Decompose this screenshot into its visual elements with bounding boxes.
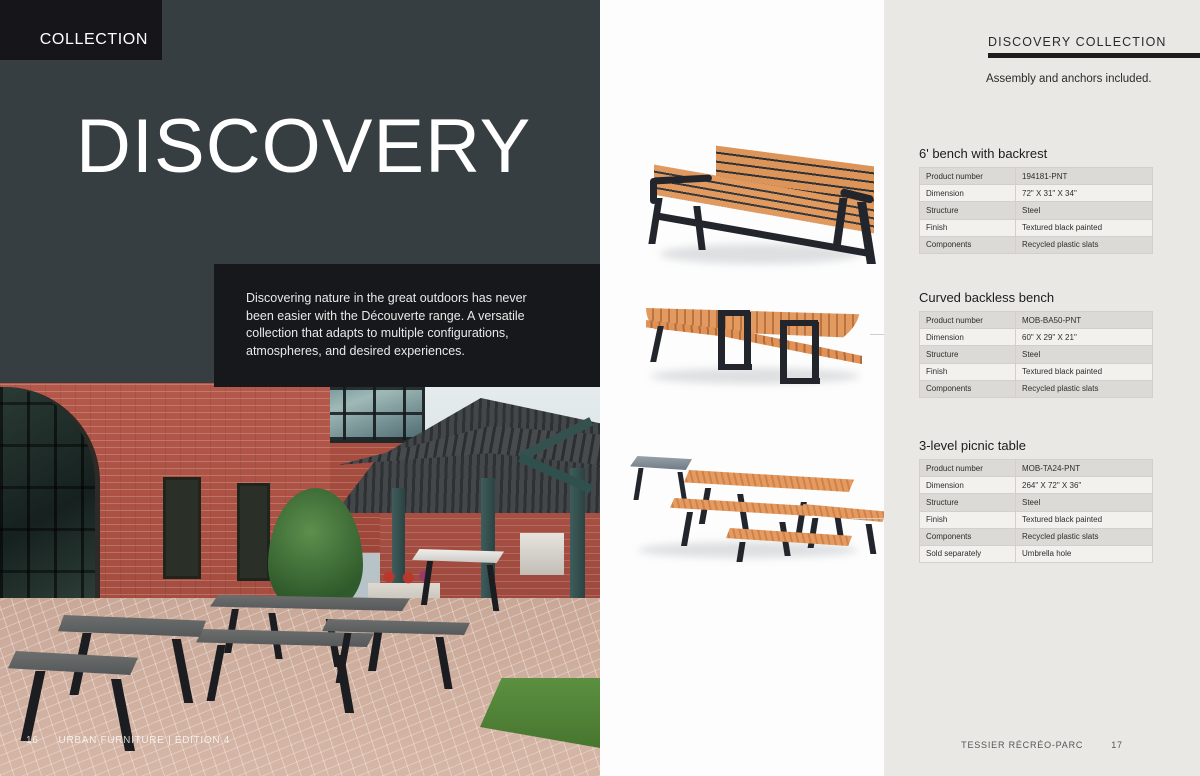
spec-value: Steel xyxy=(1016,202,1153,219)
spec-value: Steel xyxy=(1016,346,1153,363)
table-row: Dimension 264" X 72" X 36" xyxy=(920,477,1153,494)
spec-value: MOB-TA24-PNT xyxy=(1016,460,1153,477)
spec-value: Recycled plastic slats xyxy=(1016,380,1153,397)
spec-key: Dimension xyxy=(920,185,1016,202)
table-row: Structure Steel xyxy=(920,202,1153,219)
table-row: Components Recycled plastic slats xyxy=(920,236,1153,253)
product-title: Curved backless bench xyxy=(919,290,1153,305)
assembly-note: Assembly and anchors included. xyxy=(986,73,1152,85)
page-title: DISCOVERY xyxy=(76,109,531,185)
right-page-number: 17 xyxy=(1111,740,1123,750)
spec-value: Recycled plastic slats xyxy=(1016,236,1153,253)
spec-key: Finish xyxy=(920,219,1016,236)
window-1 xyxy=(163,477,201,579)
spec-value: Steel xyxy=(1016,494,1153,511)
spec-key: Structure xyxy=(920,494,1016,511)
three-level-picnic-table-render xyxy=(622,446,884,562)
stone-block xyxy=(520,533,564,575)
product-block-2: Curved backless bench Product number MOB… xyxy=(919,290,1153,398)
spec-key: Dimension xyxy=(920,329,1016,346)
table-row: Finish Textured black painted xyxy=(920,511,1153,528)
product-block-3: 3-level picnic table Product number MOB-… xyxy=(919,438,1153,563)
spec-value: Recycled plastic slats xyxy=(1016,528,1153,545)
product-title: 3-level picnic table xyxy=(919,438,1153,453)
spec-key: Components xyxy=(920,236,1016,253)
header-rule xyxy=(988,53,1200,58)
description-text: Discovering nature in the great outdoors… xyxy=(246,290,546,360)
table-row: Structure Steel xyxy=(920,346,1153,363)
spec-value: 194181-PNT xyxy=(1016,168,1153,185)
spec-value: 72" X 31" X 34" xyxy=(1016,185,1153,202)
spec-value: Textured black painted xyxy=(1016,363,1153,380)
spec-table: Product number MOB-BA50-PNT Dimension 60… xyxy=(919,311,1153,398)
collection-tab: COLLECTION xyxy=(0,0,162,60)
description-box: Discovering nature in the great outdoors… xyxy=(214,264,600,387)
collection-tab-label: COLLECTION xyxy=(40,31,148,49)
table-row: Structure Steel xyxy=(920,494,1153,511)
table-row: Product number MOB-BA50-PNT xyxy=(920,312,1153,329)
bench-with-backrest-render xyxy=(640,140,884,280)
spec-value: 60" X 29" X 21" xyxy=(1016,329,1153,346)
left-hero-panel: COLLECTION DISCOVERY Discovering nature … xyxy=(0,0,600,776)
collection-header: DISCOVERY COLLECTION xyxy=(988,35,1167,49)
catalog-page: COLLECTION DISCOVERY Discovering nature … xyxy=(0,0,1200,776)
table-row: Components Recycled plastic slats xyxy=(920,380,1153,397)
spec-value: MOB-BA50-PNT xyxy=(1016,312,1153,329)
table-row: Components Recycled plastic slats xyxy=(920,528,1153,545)
specifications-panel: DISCOVERY COLLECTION Assembly and anchor… xyxy=(884,0,1200,776)
left-footer-text: URBAN FURNITURE | EDITION 4 xyxy=(59,735,231,746)
window-2 xyxy=(237,483,270,581)
spec-key: Product number xyxy=(920,460,1016,477)
table-row: Product number MOB-TA24-PNT xyxy=(920,460,1153,477)
spec-key: Components xyxy=(920,528,1016,545)
spec-value: Umbrella hole xyxy=(1016,545,1153,562)
table-row: Finish Textured black painted xyxy=(920,363,1153,380)
spec-key: Finish xyxy=(920,511,1016,528)
spec-key: Structure xyxy=(920,346,1016,363)
spec-value: Textured black painted xyxy=(1016,219,1153,236)
spec-key: Product number xyxy=(920,312,1016,329)
spec-key: Components xyxy=(920,380,1016,397)
spec-key: Sold separately xyxy=(920,545,1016,562)
spec-table: Product number 194181-PNT Dimension 72" … xyxy=(919,167,1153,254)
spec-key: Product number xyxy=(920,168,1016,185)
left-page-number: 16 xyxy=(26,735,39,746)
hero-photograph: 16URBAN FURNITURE | EDITION 4 xyxy=(0,383,600,776)
spec-table: Product number MOB-TA24-PNT Dimension 26… xyxy=(919,459,1153,563)
right-page-footer: TESSIER RÉCRÉO-PARC17 xyxy=(884,740,1200,750)
spec-key: Dimension xyxy=(920,477,1016,494)
spec-value: Textured black painted xyxy=(1016,511,1153,528)
table-row: Dimension 72" X 31" X 34" xyxy=(920,185,1153,202)
spec-key: Structure xyxy=(920,202,1016,219)
curved-backless-bench-render xyxy=(632,290,884,390)
table-row: Dimension 60" X 29" X 21" xyxy=(920,329,1153,346)
table-row: Finish Textured black painted xyxy=(920,219,1153,236)
product-block-1: 6' bench with backrest Product number 19… xyxy=(919,146,1153,254)
table-row: Product number 194181-PNT xyxy=(920,168,1153,185)
product-title: 6' bench with backrest xyxy=(919,146,1153,161)
product-render-panel xyxy=(600,0,884,776)
left-page-footer: 16URBAN FURNITURE | EDITION 4 xyxy=(26,735,230,746)
brand-name: TESSIER RÉCRÉO-PARC xyxy=(961,740,1083,750)
spec-key: Finish xyxy=(920,363,1016,380)
spec-value: 264" X 72" X 36" xyxy=(1016,477,1153,494)
table-row: Sold separately Umbrella hole xyxy=(920,545,1153,562)
